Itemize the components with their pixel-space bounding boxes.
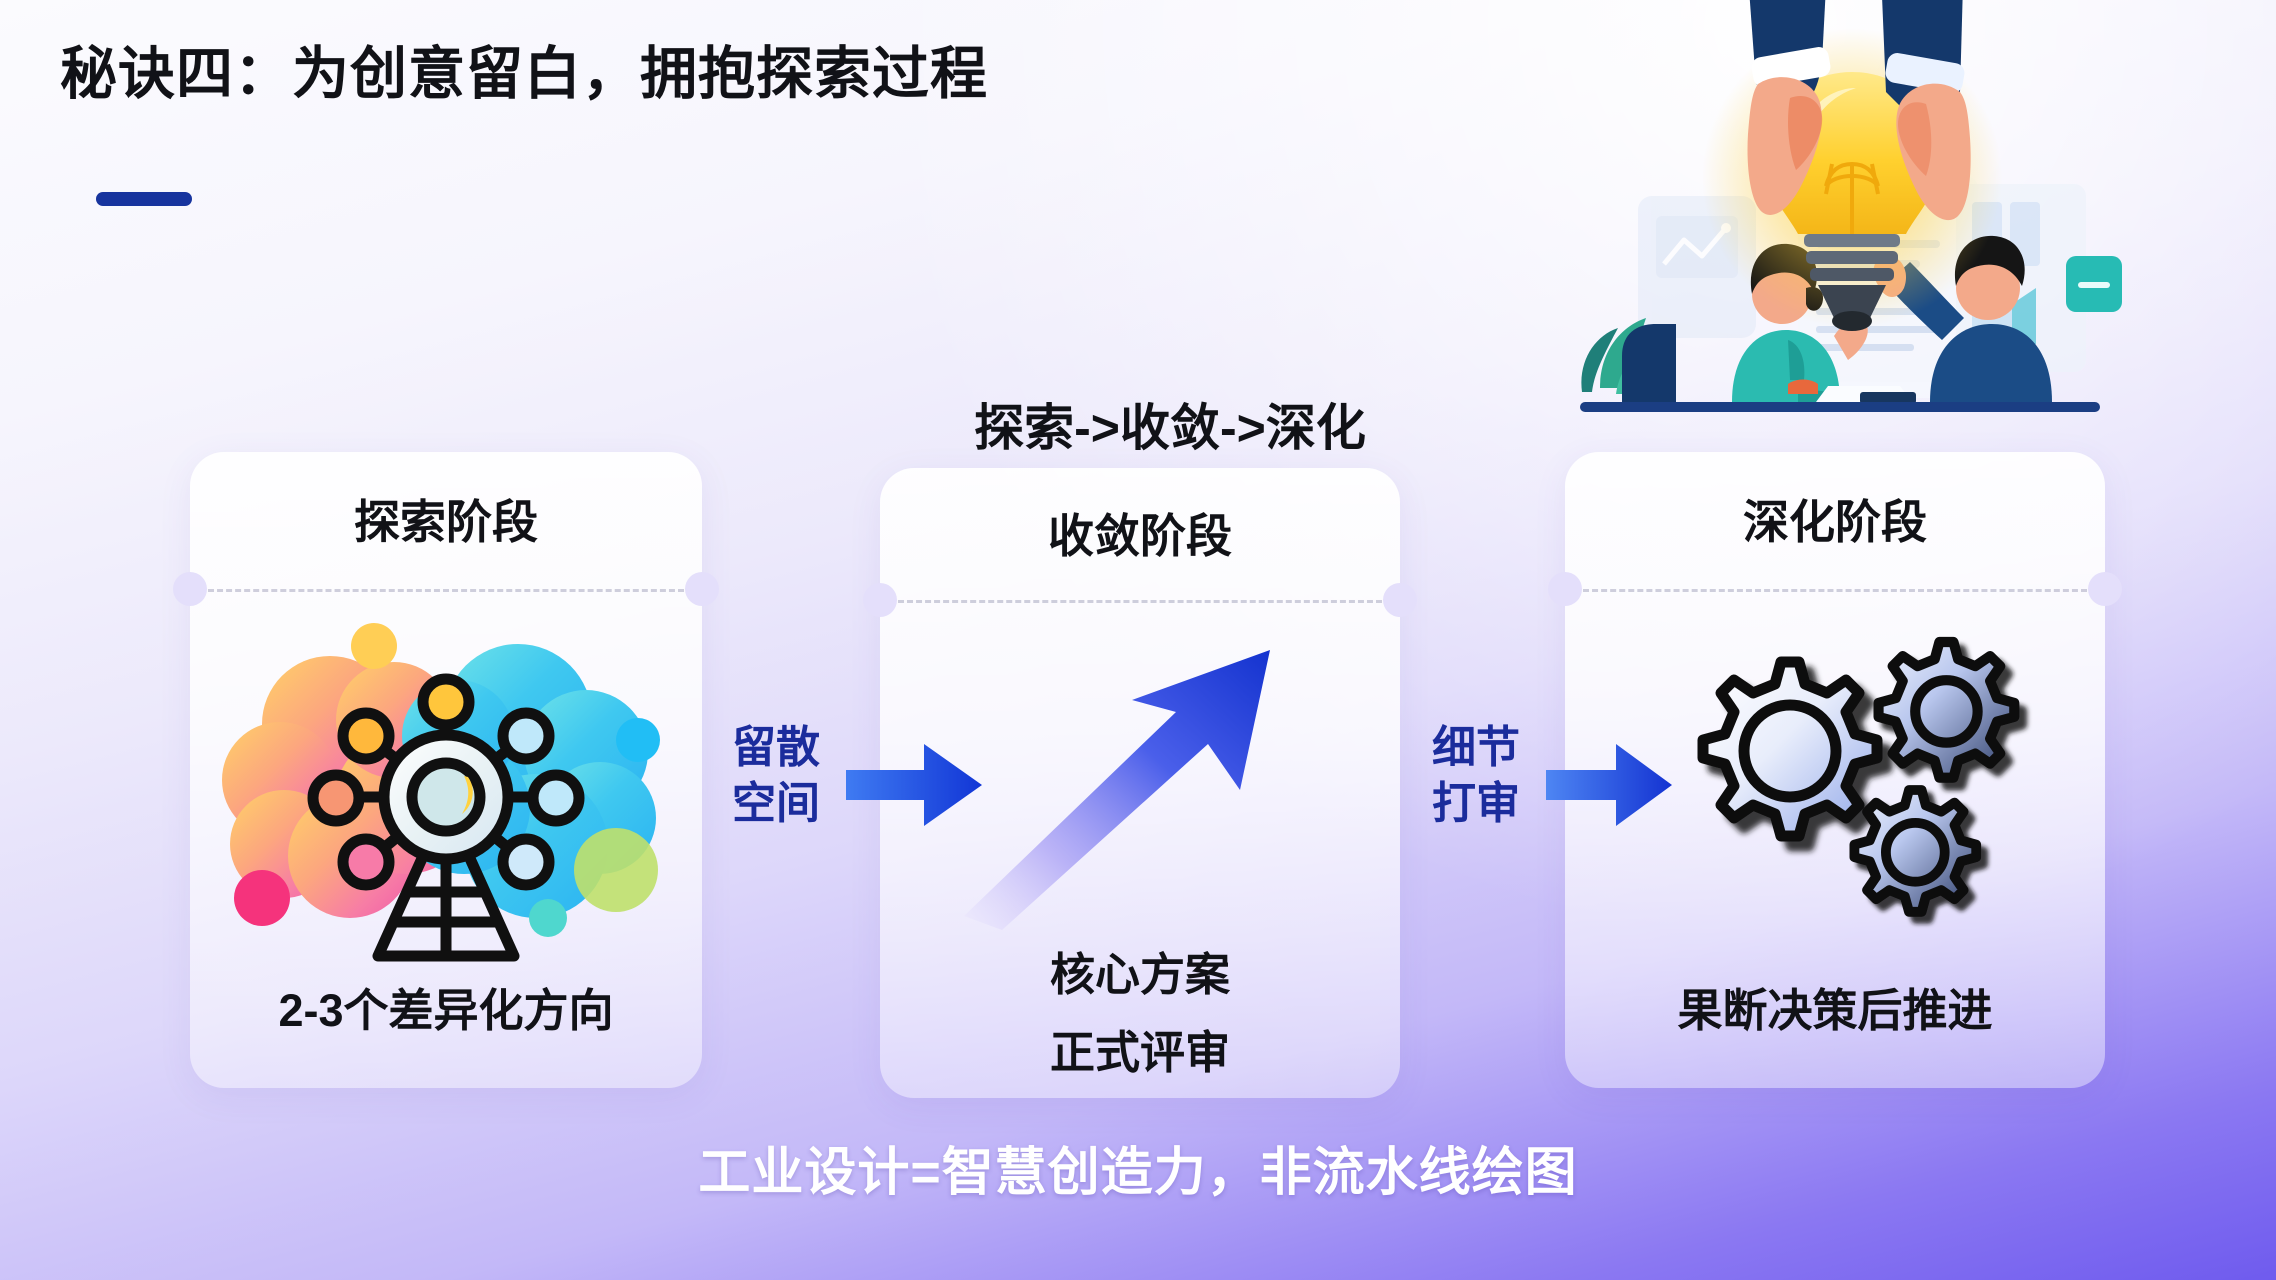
stage-card-line: 2-3个差异化方向 — [190, 974, 702, 1039]
page-title: 秘诀四：为创意留白，拥抱探索过程 — [60, 28, 988, 110]
connector-label-1: 留散 空间 — [706, 720, 846, 833]
slide-canvas: 秘诀四：为创意留白，拥抱探索过程 — [0, 0, 2276, 1280]
card-divider — [898, 600, 1382, 603]
idea-network-tower-icon — [218, 612, 674, 962]
connector-label-line1: 留散 — [706, 720, 846, 776]
card-notch-left — [1548, 572, 1582, 606]
stage-card-line: 核心方案 — [880, 938, 1400, 1003]
card-notch-right — [685, 572, 719, 606]
stage-card-explore[interactable]: 探索阶段 — [190, 452, 702, 1088]
card-divider — [1583, 589, 2087, 592]
connector-label-line2: 空间 — [706, 776, 846, 832]
hands-holding-lightbulb-illustration — [1560, 0, 2276, 458]
arrow-right-icon-1 — [846, 742, 982, 828]
growth-arrow-icon — [940, 640, 1340, 930]
connector-label-2: 细节 打审 — [1406, 720, 1546, 833]
title-accent-bar — [96, 192, 192, 206]
stage-card-title: 收敛阶段 — [880, 500, 1400, 566]
bottom-banner: 工业设计=智慧创造力，非流水线绘图 — [0, 1130, 2276, 1205]
connector-label-line2: 打审 — [1406, 776, 1546, 832]
card-notch-right — [2088, 572, 2122, 606]
card-notch-left — [863, 583, 897, 617]
stage-card-line: 果断决策后推进 — [1565, 974, 2105, 1039]
stage-card-title: 探索阶段 — [190, 486, 702, 552]
stage-card-line: 正式评审 — [880, 1016, 1400, 1081]
gears-icon — [1631, 620, 2051, 950]
stage-card-title: 深化阶段 — [1565, 486, 2105, 552]
arrow-right-icon-2 — [1546, 742, 1672, 828]
connector-label-line1: 细节 — [1406, 720, 1546, 776]
card-notch-left — [173, 572, 207, 606]
card-divider — [208, 589, 684, 592]
card-notch-right — [1383, 583, 1417, 617]
flow-sequence-label: 探索->收敛->深化 — [890, 388, 1450, 460]
